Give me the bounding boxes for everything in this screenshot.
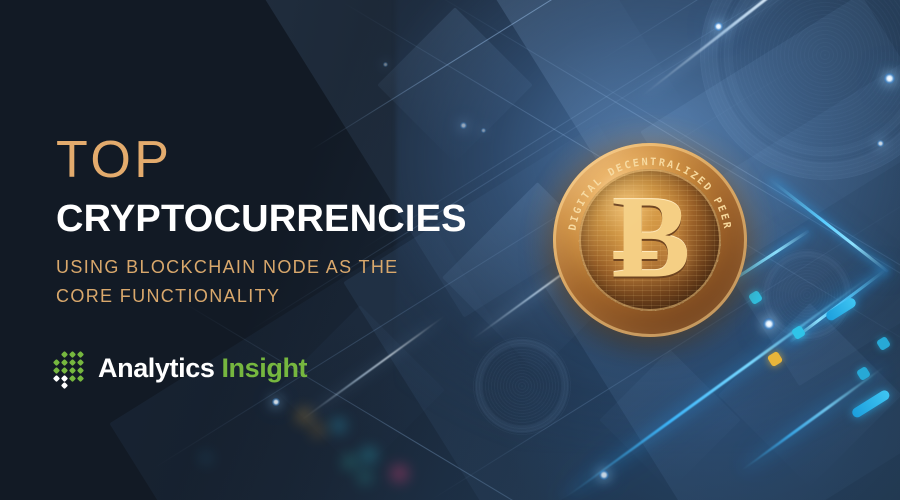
headline-block: TOP CRYPTOCURRENCIES USING BLOCKCHAIN NO… <box>56 134 496 310</box>
brand-wordmark: AnalyticsInsight <box>98 355 307 382</box>
brand-word-insight: Insight <box>221 353 307 383</box>
brand-logo[interactable]: AnalyticsInsight <box>54 352 307 384</box>
brand-word-analytics: Analytics <box>98 353 214 383</box>
page-title: CRYPTOCURRENCIES <box>56 200 496 238</box>
subhead-line-1: USING BLOCKCHAIN NODE AS THE <box>56 254 496 281</box>
coin-body: BITCOIN DIGITAL DECENTRALIZED PEER TO PE… <box>553 143 747 337</box>
crypto-banner: BITCOIN DIGITAL DECENTRALIZED PEER TO PE… <box>0 0 900 500</box>
eyebrow-text: TOP <box>56 134 496 186</box>
coin-face: Ƀ <box>579 169 721 311</box>
subhead-line-2: CORE FUNCTIONALITY <box>56 283 496 310</box>
bitcoin-symbol: Ƀ <box>579 179 721 297</box>
analytics-insight-dot-matrix-icon <box>54 352 86 384</box>
bitcoin-coin: BITCOIN DIGITAL DECENTRALIZED PEER TO PE… <box>553 143 747 337</box>
